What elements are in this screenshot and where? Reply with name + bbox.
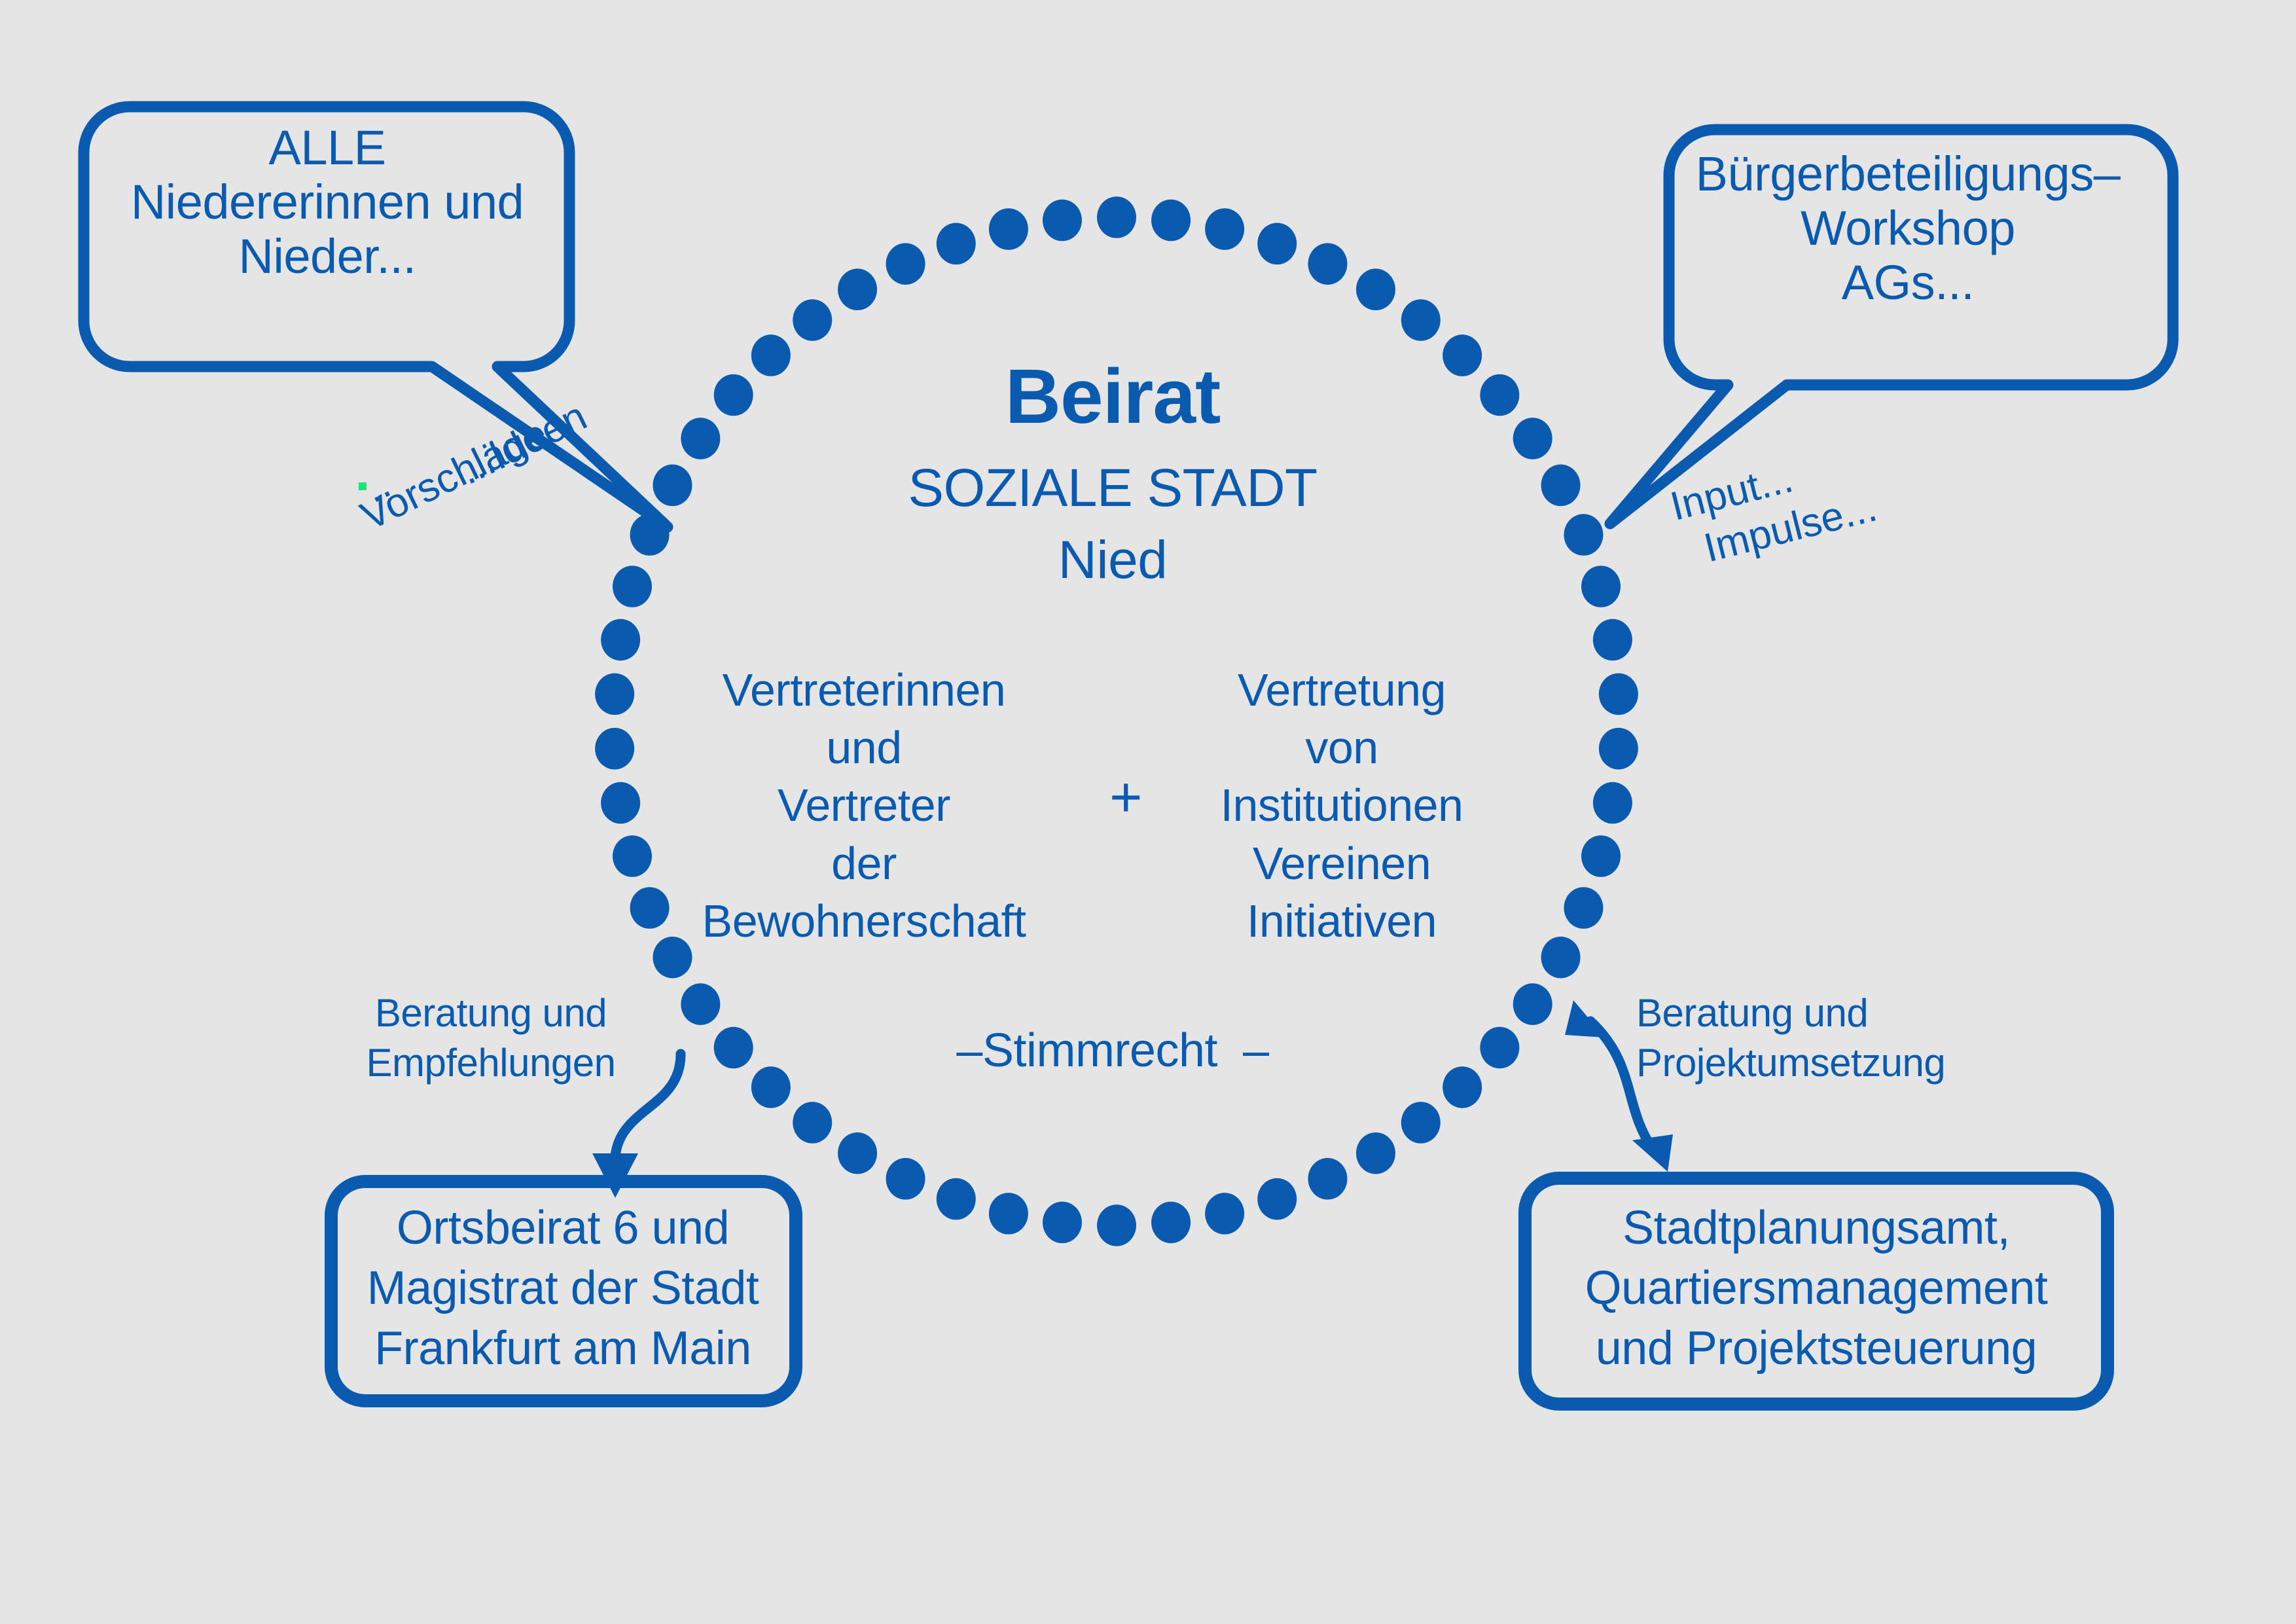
ring-dot bbox=[1564, 887, 1603, 929]
ring-dot bbox=[714, 374, 753, 416]
ring-dot bbox=[751, 334, 791, 376]
ring-dot bbox=[1308, 243, 1347, 285]
ring-dot bbox=[1599, 674, 1638, 715]
ring-dot bbox=[1151, 200, 1191, 242]
ring-dot bbox=[1599, 728, 1638, 770]
ring-dot bbox=[793, 299, 832, 341]
ring-dot bbox=[1205, 1193, 1244, 1235]
ring-dot bbox=[1097, 1204, 1136, 1246]
ring-dot bbox=[1151, 1202, 1191, 1244]
membership-column-institutions: Vertretung von Institutionen Vereinen In… bbox=[1198, 661, 1486, 950]
ring-dot bbox=[1356, 268, 1395, 310]
ring-dot bbox=[1043, 1202, 1082, 1244]
ring-dot bbox=[1205, 208, 1244, 250]
box-bottom-left-label: Ortsbeirat 6 und Magistrat der Stadt Fra… bbox=[334, 1198, 792, 1379]
ring-dot bbox=[653, 937, 692, 979]
ring-dot bbox=[1401, 299, 1441, 341]
ring-dot bbox=[886, 243, 925, 285]
ring-dot bbox=[630, 887, 670, 929]
ring-dot bbox=[681, 983, 720, 1025]
ring-dot bbox=[989, 1193, 1028, 1235]
ring-dot bbox=[886, 1158, 925, 1200]
ring-dot bbox=[1401, 1102, 1441, 1144]
ring-dot bbox=[601, 619, 640, 661]
ring-dot bbox=[1581, 835, 1621, 877]
ring-dot bbox=[1308, 1158, 1347, 1200]
box-bottom-right-label: Stadtplanungsamt, Quartiersmanagement un… bbox=[1532, 1198, 2101, 1379]
ring-dot bbox=[1443, 334, 1482, 376]
speech-bubble-top-left-label: ALLE Niedererinnen und Nieder... bbox=[85, 121, 569, 284]
ring-dot bbox=[793, 1102, 832, 1144]
ring-dot bbox=[1581, 566, 1621, 607]
ring-dot bbox=[1513, 983, 1552, 1025]
ring-dot bbox=[1480, 374, 1519, 416]
diagram-canvas: ALLE Niedererinnen und Nieder... Bürgerb… bbox=[0, 0, 2296, 1624]
ring-dot bbox=[601, 782, 640, 824]
membership-column-residents: Vertreterinnen und Vertreter der Bewohne… bbox=[694, 661, 1034, 950]
ring-dot bbox=[1257, 223, 1297, 265]
ring-dot bbox=[1480, 1027, 1519, 1069]
page-title: Beirat bbox=[805, 353, 1420, 440]
ring-dot bbox=[1593, 782, 1632, 824]
arrowhead-up-left bbox=[1565, 1000, 1605, 1038]
ring-dot bbox=[653, 465, 692, 507]
ring-dot bbox=[1541, 465, 1581, 507]
ring-dot bbox=[989, 208, 1028, 250]
ring-dot bbox=[937, 1178, 976, 1220]
ring-dot bbox=[1097, 196, 1136, 238]
label-beratung-empfehlungen: Beratung und Empfehlungen bbox=[340, 988, 641, 1087]
ring-dot bbox=[1513, 418, 1552, 460]
ring-dot bbox=[1541, 937, 1581, 979]
ring-dot bbox=[751, 1066, 791, 1108]
ring-dot bbox=[1043, 200, 1082, 242]
ring-dot bbox=[838, 268, 877, 310]
ring-dot bbox=[1593, 619, 1632, 661]
ring-dot bbox=[1443, 1066, 1482, 1108]
ring-dot bbox=[838, 1132, 877, 1174]
ring-dot bbox=[595, 728, 634, 770]
green-dot-marker bbox=[359, 482, 367, 490]
ring-dot bbox=[1564, 514, 1603, 556]
page-subtitle-line2: Nied bbox=[805, 530, 1420, 590]
ring-dot bbox=[1257, 1178, 1297, 1220]
ring-dot bbox=[613, 835, 652, 877]
ring-dot bbox=[595, 674, 634, 715]
arrowhead-down-right bbox=[1632, 1134, 1673, 1172]
page-subtitle-line1: SOZIALE STADT bbox=[805, 458, 1420, 518]
ring-dot bbox=[1356, 1132, 1395, 1174]
speech-bubble-top-right-label: Bürgerbeteiligungs– Workshop AGs... bbox=[1669, 147, 2147, 310]
ring-dot bbox=[937, 223, 976, 265]
ring-dot bbox=[681, 418, 720, 460]
ring-dot bbox=[714, 1027, 753, 1069]
plus-icon: + bbox=[1080, 766, 1172, 829]
label-beratung-projektumsetzung: Beratung und Projektumsetzung bbox=[1636, 988, 1977, 1087]
ring-dot bbox=[613, 566, 652, 607]
voting-rights-note: –Stimmrecht – bbox=[916, 1024, 1309, 1077]
